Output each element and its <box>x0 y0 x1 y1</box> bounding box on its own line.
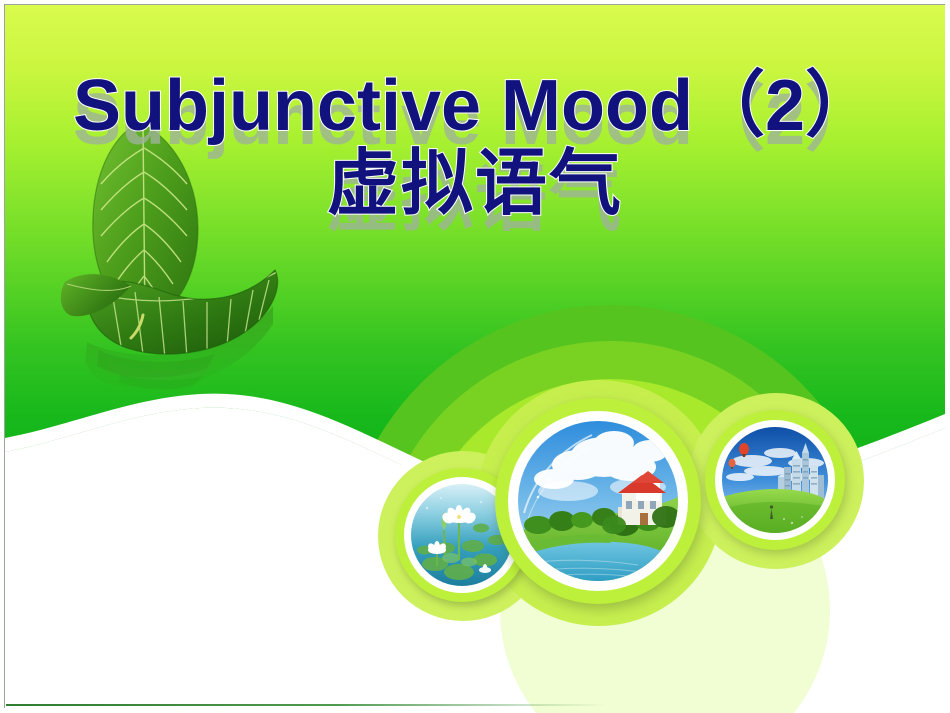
bottom-rule <box>6 704 606 706</box>
medallion-villa-photo <box>518 421 678 581</box>
title-slide: Subjunctive Mood（2） Subjunctive Mood（2） … <box>0 0 950 713</box>
title-chinese-text: 虚拟语气 <box>0 148 950 220</box>
medallion-city <box>705 410 845 550</box>
medallion-villa <box>495 398 701 604</box>
medallion-city-photo <box>722 427 828 533</box>
title-english: Subjunctive Mood（2） Subjunctive Mood（2） <box>0 70 950 142</box>
title-block: Subjunctive Mood（2） Subjunctive Mood（2） … <box>0 70 950 220</box>
title-english-text: Subjunctive Mood（2） <box>0 70 950 142</box>
title-chinese: 虚拟语气 虚拟语气 <box>0 148 950 220</box>
